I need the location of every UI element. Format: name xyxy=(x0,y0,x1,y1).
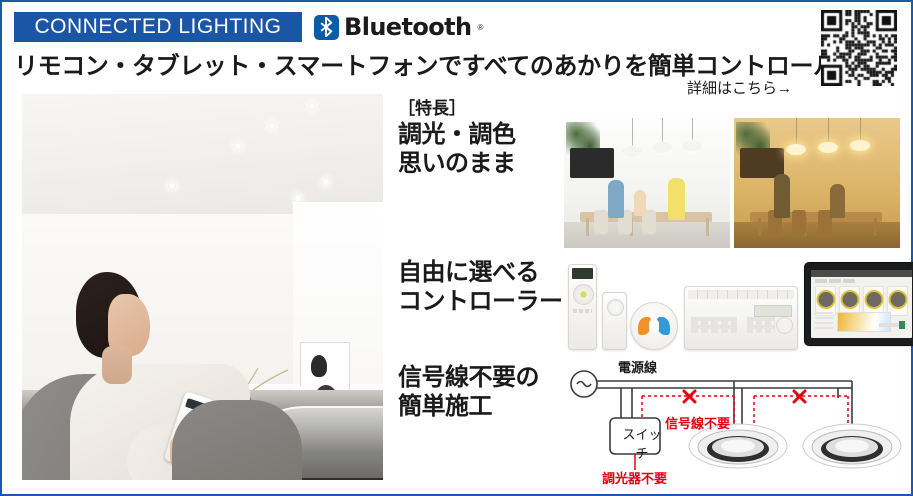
dining-chair xyxy=(594,210,608,234)
ceiling-downlight xyxy=(322,178,330,186)
panel-scene-buttons xyxy=(688,290,794,299)
remote-buttons xyxy=(573,309,592,313)
tablet-sidelist xyxy=(815,312,833,332)
pendant-lamp xyxy=(818,142,838,153)
color-temperature-picker xyxy=(837,312,891,332)
hero-second-chair xyxy=(172,400,302,480)
pendant-lamp xyxy=(622,146,642,157)
hero-photo xyxy=(22,94,383,480)
hero-person-neck xyxy=(102,346,132,384)
round-color-dial[interactable] xyxy=(630,302,678,350)
qr-code[interactable] xyxy=(821,10,897,86)
brightness-slider xyxy=(879,323,907,327)
ceiling-downlight xyxy=(308,102,316,110)
wiring-diagram: 電源線 スイッチ 調光器不要 信号線不要 xyxy=(562,358,906,486)
power-line-label: 電源線 xyxy=(618,357,657,376)
ceiling-downlight xyxy=(168,182,176,190)
switch-label: スイッチ xyxy=(617,424,667,462)
wall-tv xyxy=(570,148,614,178)
person-child xyxy=(634,190,646,216)
no-dimmer-label: 調光器不要 xyxy=(602,468,667,487)
connected-lighting-badge: CONNECTED LIGHTING xyxy=(14,12,302,42)
ceiling-downlight xyxy=(294,194,302,202)
person xyxy=(668,178,685,220)
remote-controller-small[interactable] xyxy=(602,292,627,350)
panel-nav-ring xyxy=(776,317,793,334)
tablet-tabs xyxy=(815,279,855,283)
remote-dial xyxy=(573,284,594,305)
panel-keypad-left xyxy=(691,317,737,333)
scene-photo-warm xyxy=(734,118,900,248)
ceiling-downlight xyxy=(268,122,276,130)
wall-control-panel[interactable] xyxy=(684,286,798,350)
tablet-app-titlebar xyxy=(811,270,912,277)
panel-display xyxy=(754,305,792,317)
feature-1-heading: 調光・調色 思いのまま xyxy=(398,120,516,179)
qr-section: 詳細はこちら→ xyxy=(687,8,903,104)
bluetooth-icon xyxy=(314,15,339,40)
person xyxy=(830,184,845,218)
dial-center xyxy=(649,320,659,332)
controller-lineup xyxy=(564,258,904,350)
remote-pad xyxy=(607,299,624,316)
scene-photo-cool xyxy=(564,118,730,248)
bluetooth-logo: Bluetooth ® xyxy=(314,12,483,42)
pendant-lamp xyxy=(682,140,702,151)
dining-chair xyxy=(792,210,806,234)
wall-tv xyxy=(740,148,784,178)
panel-keypad-right xyxy=(747,317,775,333)
pendant-lamp xyxy=(652,142,672,153)
downlight-2 xyxy=(803,424,901,468)
remote-controller-large[interactable] xyxy=(568,264,597,350)
person xyxy=(774,174,790,218)
feature-3-heading: 信号線不要の 簡単施工 xyxy=(398,363,539,422)
pendant-lamp xyxy=(786,144,806,155)
badge-label: CONNECTED LIGHTING xyxy=(34,15,281,39)
scene-photos xyxy=(564,118,900,248)
ceiling-downlight xyxy=(234,142,242,150)
features-section-label: ［特長］ xyxy=(398,94,466,119)
tablet-app[interactable] xyxy=(804,262,913,346)
remote-lcd xyxy=(572,268,593,279)
no-signal-line-label: 信号線不要 xyxy=(665,413,730,432)
connected-lighting-poster: CONNECTED LIGHTING Bluetooth ® リモコン・タブレッ… xyxy=(0,0,913,496)
tablet-screen xyxy=(811,270,912,338)
bluetooth-registered-mark: ® xyxy=(478,23,484,32)
bluetooth-wordmark: Bluetooth xyxy=(344,13,472,41)
feature-2-heading: 自由に選べる コントローラー xyxy=(398,258,563,317)
person xyxy=(608,180,624,218)
qr-label: 詳細はこちら→ xyxy=(687,77,792,98)
pendant-lamp xyxy=(850,140,870,151)
